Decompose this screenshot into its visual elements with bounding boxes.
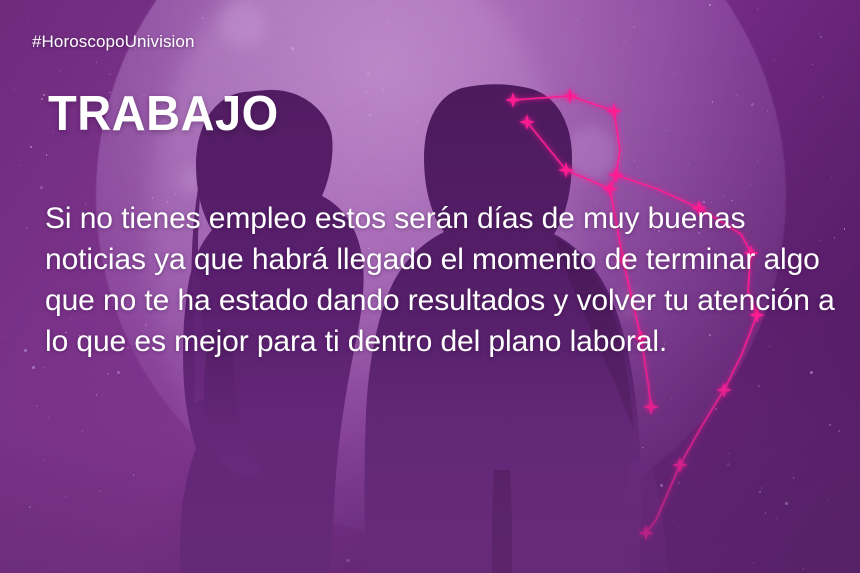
page-title: TRABAJO [48, 90, 279, 139]
horoscope-body-text: Si no tienes empleo estos serán días de … [45, 198, 835, 362]
horoscope-card: #HoroscopoUnivision TRABAJO Si no tienes… [0, 0, 860, 573]
hashtag-label: #HoroscopoUnivision [32, 32, 195, 52]
